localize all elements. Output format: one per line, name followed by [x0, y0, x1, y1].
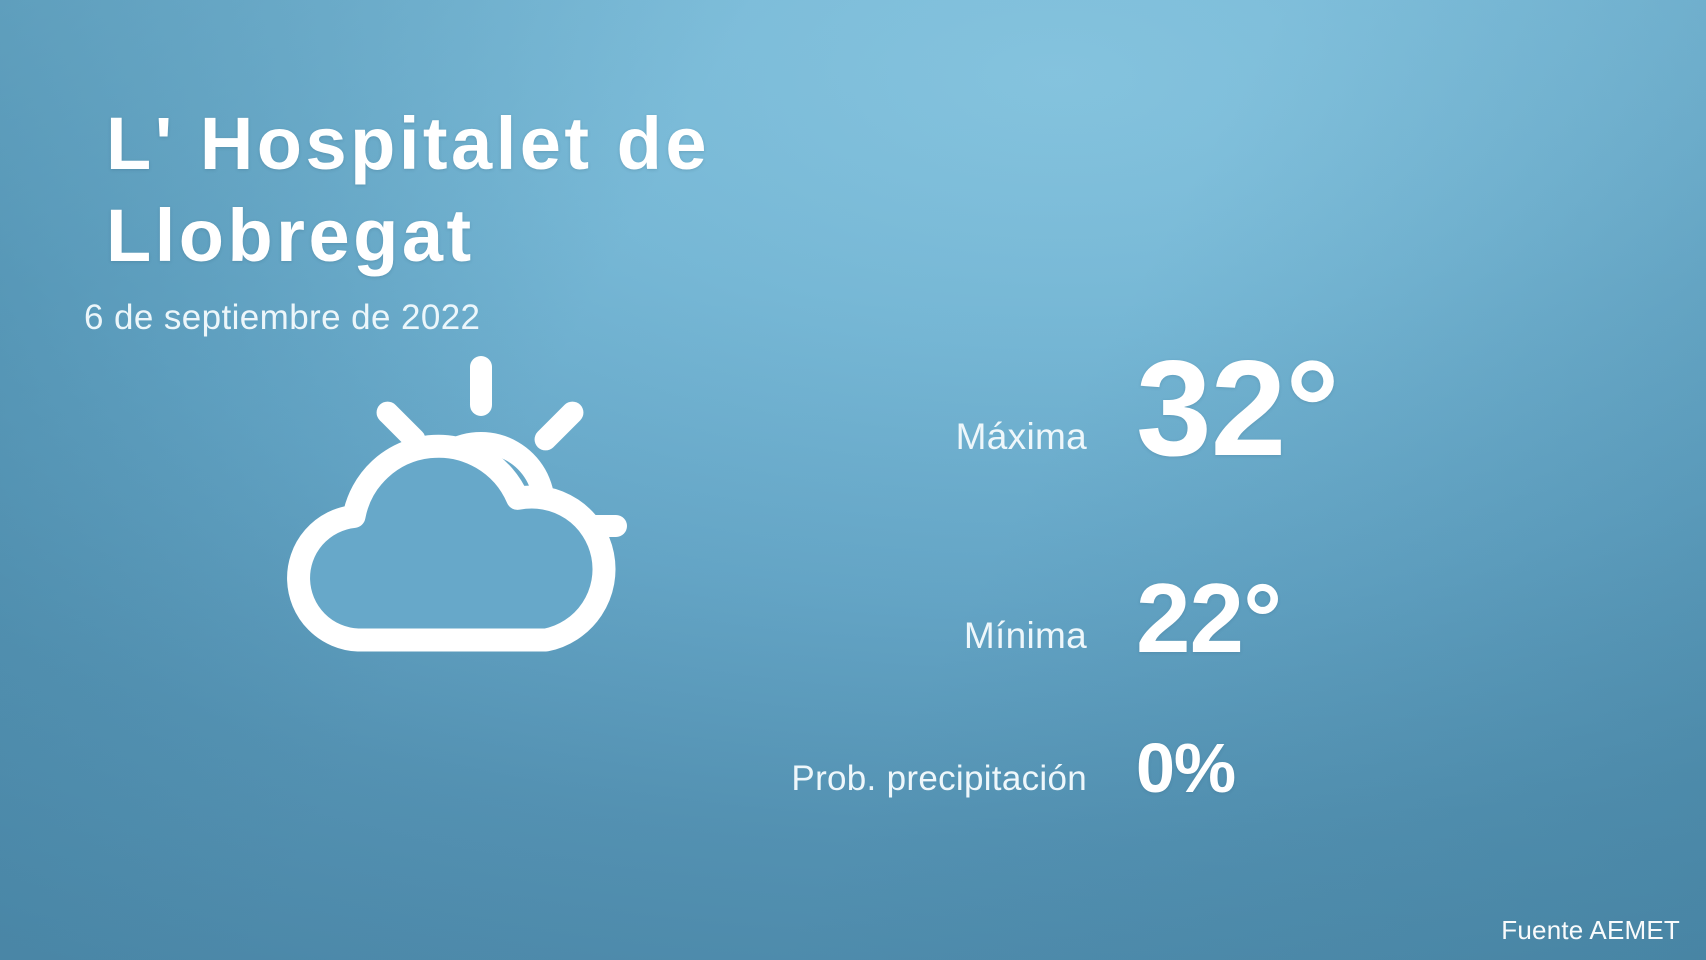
max-temperature-label: Máxima — [600, 416, 1087, 458]
page-title: L' Hospitalet de Llobregat — [106, 98, 936, 282]
sun-behind-cloud-icon — [238, 348, 658, 668]
metric-row-max: Máxima 32° — [600, 330, 1646, 500]
metrics-list: Máxima 32° Mínima 22° Prob. precipitació… — [600, 330, 1646, 830]
sun-ray-top — [470, 356, 492, 416]
source-credit: Fuente AEMET — [1501, 914, 1680, 946]
min-temperature-value: 22° — [1087, 562, 1556, 675]
min-temperature-label: Mínima — [600, 615, 1087, 657]
card-content: L' Hospitalet de Llobregat 6 de septiemb… — [0, 0, 1706, 960]
precipitation-probability-label: Prob. precipitación — [600, 759, 1087, 799]
max-temperature-value: 32° — [1087, 330, 1556, 486]
metric-row-precipitation: Prob. precipitación 0% — [600, 728, 1646, 838]
sun-ray-top-right — [530, 397, 588, 455]
precipitation-probability-value: 0% — [1087, 728, 1556, 808]
forecast-date: 6 de septiembre de 2022 — [84, 296, 480, 340]
metric-row-min: Mínima 22° — [600, 562, 1646, 692]
weather-card: L' Hospitalet de Llobregat 6 de septiemb… — [0, 0, 1706, 960]
cloud-shape — [299, 446, 604, 640]
